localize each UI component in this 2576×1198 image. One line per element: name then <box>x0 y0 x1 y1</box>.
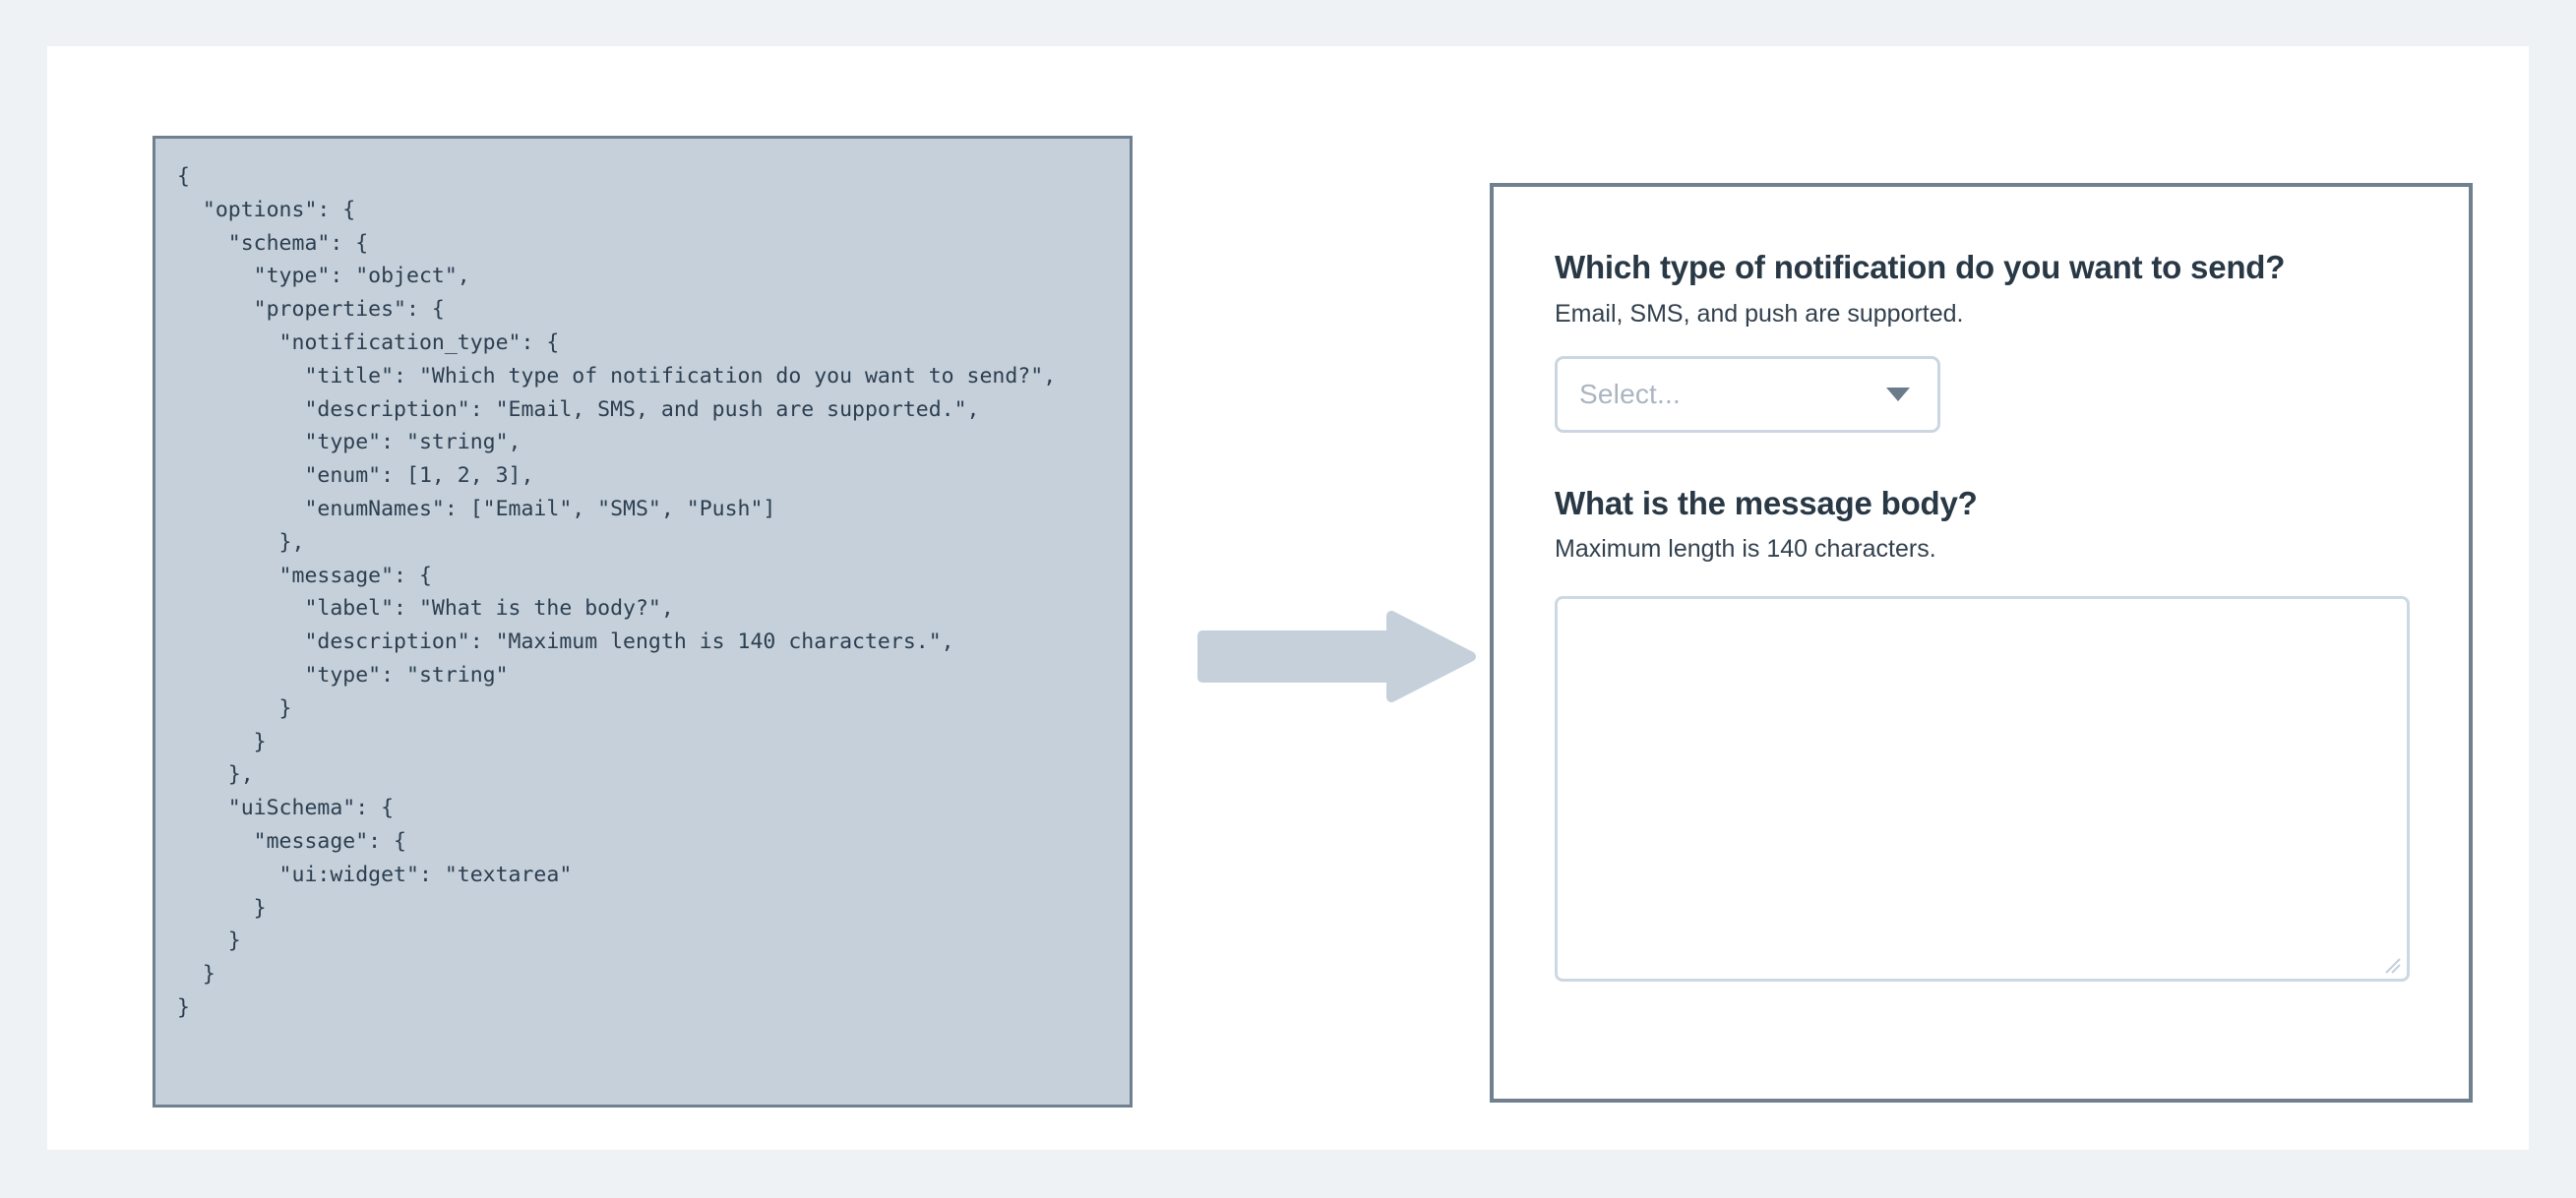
field-message-body-title: What is the message body? <box>1555 484 2410 523</box>
field-message-body-description: Maximum length is 140 characters. <box>1555 534 2410 565</box>
field-notification-type-description: Email, SMS, and push are supported. <box>1555 299 2410 329</box>
chevron-down-icon <box>1886 388 1910 401</box>
form-fields: Which type of notification do you want t… <box>1555 248 2410 982</box>
field-notification-type: Which type of notification do you want t… <box>1555 248 2410 433</box>
json-schema-panel: { "options": { "schema": { "type": "obje… <box>153 136 1133 1108</box>
notification-type-select[interactable]: Select... <box>1555 356 1940 433</box>
resize-grip-icon[interactable] <box>2380 953 2402 975</box>
field-message-body: What is the message body? Maximum length… <box>1555 484 2410 982</box>
right-arrow-icon <box>1196 610 1477 703</box>
notification-type-select-value: Select... <box>1579 379 1681 410</box>
transform-arrow <box>1196 610 1477 703</box>
rendered-form-panel: Which type of notification do you want t… <box>1490 183 2473 1103</box>
page-card: { "options": { "schema": { "type": "obje… <box>47 46 2529 1150</box>
field-notification-type-title: Which type of notification do you want t… <box>1555 248 2410 287</box>
message-body-textarea[interactable] <box>1555 596 2410 982</box>
json-schema-code: { "options": { "schema": { "type": "obje… <box>155 139 1130 1025</box>
